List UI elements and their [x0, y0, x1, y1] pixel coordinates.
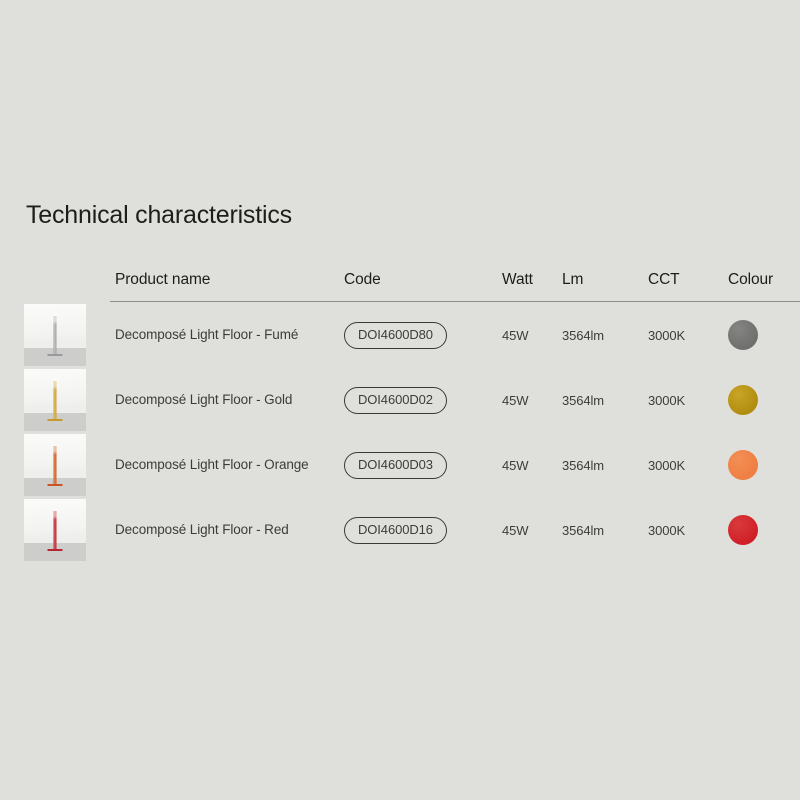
column-header-product-name: Product name — [115, 271, 210, 289]
product-specs-page: Technical characteristics Product name C… — [0, 0, 800, 800]
product-code-pill[interactable]: DOI4600D80 — [344, 322, 447, 349]
table-header-row: Product name Code Watt Lm CCT Colour — [0, 268, 800, 302]
lamp-base-icon — [48, 354, 63, 357]
colour-swatch[interactable] — [728, 450, 758, 480]
cct-cell: 3000K — [648, 458, 685, 473]
column-header-code: Code — [344, 271, 381, 289]
lamp-base-icon — [48, 419, 63, 422]
lamp-glow-icon — [53, 314, 58, 323]
page-title: Technical characteristics — [26, 198, 292, 232]
watt-cell: 45W — [502, 328, 528, 343]
lamp-base-icon — [48, 549, 63, 552]
product-name-cell: Decomposé Light Floor - Orange — [115, 457, 309, 472]
product-code-pill[interactable]: DOI4600D03 — [344, 452, 447, 479]
product-name-cell: Decomposé Light Floor - Fumé — [115, 327, 298, 342]
column-header-lm: Lm — [562, 271, 583, 289]
product-name-cell: Decomposé Light Floor - Gold — [115, 392, 292, 407]
table-row[interactable]: Decomposé Light Floor - FuméDOI4600D8045… — [0, 302, 800, 367]
cct-cell: 3000K — [648, 523, 685, 538]
lamp-glow-icon — [53, 444, 58, 453]
colour-swatch[interactable] — [728, 515, 758, 545]
lumen-cell: 3564lm — [562, 523, 604, 538]
colour-swatch[interactable] — [728, 320, 758, 350]
product-thumbnail[interactable] — [24, 499, 86, 561]
lumen-cell: 3564lm — [562, 328, 604, 343]
table-row[interactable]: Decomposé Light Floor - GoldDOI4600D0245… — [0, 367, 800, 432]
lumen-cell: 3564lm — [562, 393, 604, 408]
product-thumbnail[interactable] — [24, 304, 86, 366]
table-row[interactable]: Decomposé Light Floor - RedDOI4600D1645W… — [0, 497, 800, 562]
column-header-watt: Watt — [502, 271, 533, 289]
watt-cell: 45W — [502, 393, 528, 408]
product-thumbnail[interactable] — [24, 369, 86, 431]
product-code-pill[interactable]: DOI4600D16 — [344, 517, 447, 544]
technical-characteristics-table: Product name Code Watt Lm CCT Colour Dec… — [0, 268, 800, 562]
lamp-glow-icon — [53, 379, 58, 388]
product-thumbnail[interactable] — [24, 434, 86, 496]
colour-swatch[interactable] — [728, 385, 758, 415]
column-header-colour: Colour — [728, 271, 773, 289]
watt-cell: 45W — [502, 458, 528, 473]
cct-cell: 3000K — [648, 328, 685, 343]
lamp-base-icon — [48, 484, 63, 487]
table-row[interactable]: Decomposé Light Floor - OrangeDOI4600D03… — [0, 432, 800, 497]
table-body: Decomposé Light Floor - FuméDOI4600D8045… — [0, 302, 800, 562]
lumen-cell: 3564lm — [562, 458, 604, 473]
product-name-cell: Decomposé Light Floor - Red — [115, 522, 289, 537]
product-code-pill[interactable]: DOI4600D02 — [344, 387, 447, 414]
cct-cell: 3000K — [648, 393, 685, 408]
column-header-cct: CCT — [648, 271, 680, 289]
watt-cell: 45W — [502, 523, 528, 538]
lamp-glow-icon — [53, 509, 58, 518]
